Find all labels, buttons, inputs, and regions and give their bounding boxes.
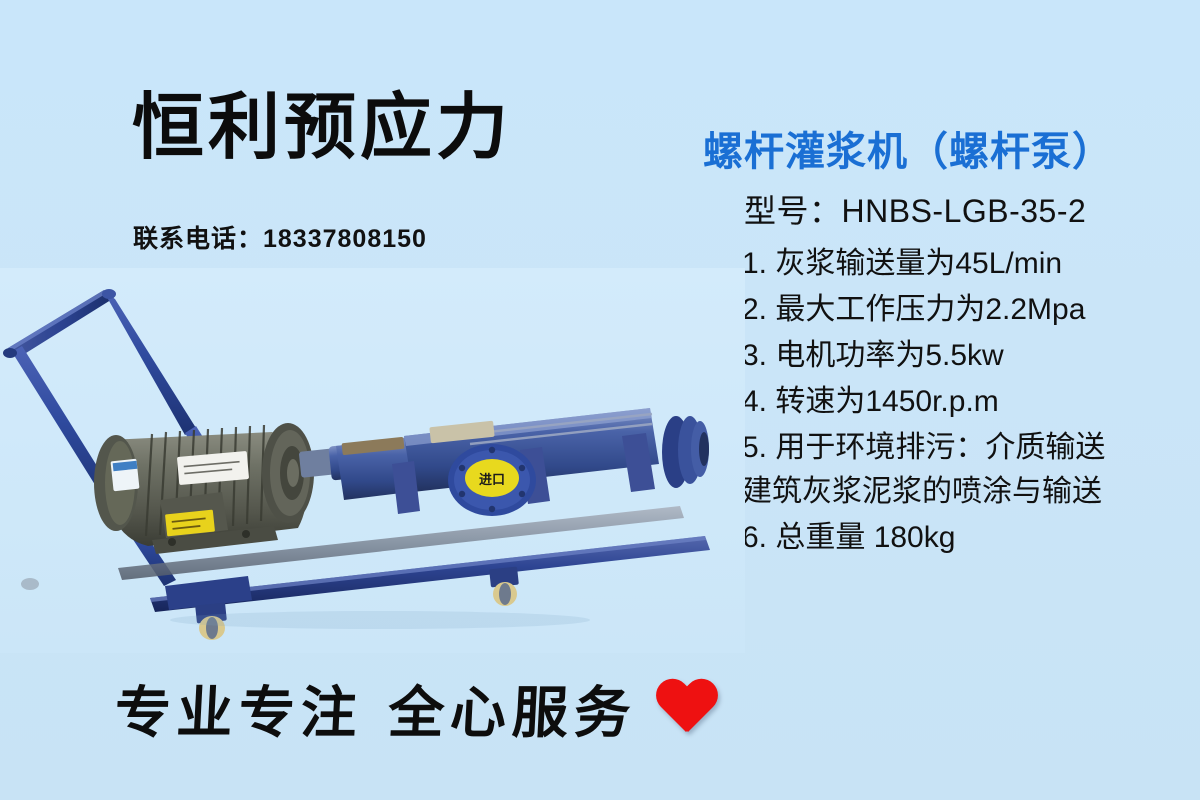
spec-item: 4. 转速为1450r.p.m — [742, 387, 1200, 417]
spec-item: 1. 灰浆输送量为45L/min — [742, 249, 1200, 279]
spec-item: 5. 用于环境排污：介质输送 建筑灰浆泥浆的喷涂与输送 — [742, 433, 1200, 507]
spec-list: 1. 灰浆输送量为45L/min 2. 最大工作压力为2.2Mpa 3. 电机功… — [742, 249, 1200, 569]
spec-text: 1. 灰浆输送量为45L/min — [742, 247, 1062, 280]
poster-root: 恒利预应力 联系电话：18337808150 螺杆灌浆机（螺杆泵） 型号：HNB… — [0, 0, 1200, 800]
spec-item: 2. 最大工作压力为2.2Mpa — [742, 295, 1200, 325]
spec-item: 3. 电机功率为5.5kw — [742, 341, 1200, 371]
brand-title: 恒利预应力 — [132, 92, 512, 164]
product-title: 螺杆灌浆机（螺杆泵） — [703, 119, 1113, 177]
pump-inlet-flange: 进口 — [448, 444, 536, 516]
spec-text: 4. 转速为1450r.p.m — [742, 385, 999, 418]
spec-text: 2. 最大工作压力为2.2Mpa — [742, 293, 1085, 326]
slogan-text: 专业专注 全心服务 — [113, 668, 639, 749]
spec-text: 3. 电机功率为5.5kw — [742, 339, 1004, 372]
product-model: 型号：HNBS-LGB-35-2 — [744, 186, 1086, 232]
contact-phone: 联系电话：18337808150 — [133, 219, 427, 255]
screw-grouting-pump-machine-photo: 进口 — [0, 268, 745, 653]
spec-item: 6. 总重量 180kg — [742, 523, 1200, 553]
svg-text:进口: 进口 — [479, 473, 505, 488]
heart-icon — [655, 680, 719, 738]
footer-slogan-row: 专业专注 全心服务 — [115, 668, 719, 749]
spec-text: 5. 用于环境排污：介质输送 — [742, 431, 1105, 464]
spec-text-continuation: 建筑灰浆泥浆的喷涂与输送 — [742, 477, 1200, 507]
spec-text: 6. 总重量 180kg — [742, 521, 955, 554]
